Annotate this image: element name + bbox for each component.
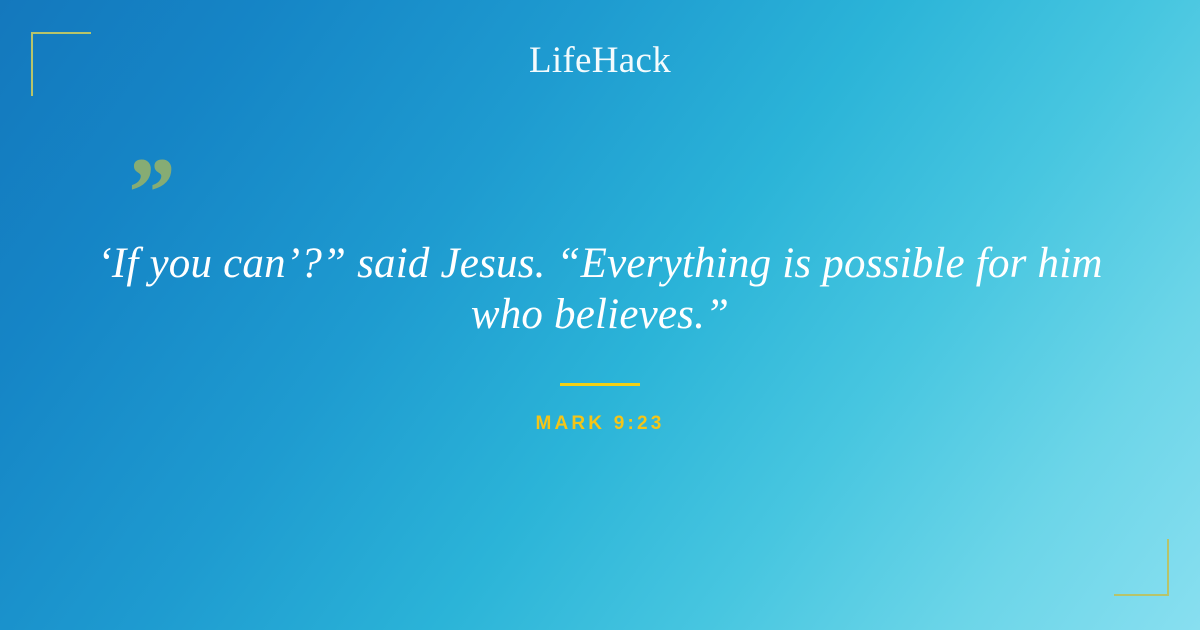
corner-bracket-bottom-right-icon — [1114, 539, 1169, 596]
quote-attribution: MARK 9:23 — [0, 413, 1200, 435]
bracket-vertical-bar — [1167, 539, 1169, 596]
bracket-horizontal-bar — [1114, 594, 1169, 596]
quote-block: ‘If you can’?” said Jesus. “Everything i… — [88, 238, 1112, 340]
divider-rule — [560, 383, 640, 386]
bracket-horizontal-bar — [31, 32, 91, 34]
quote-text: ‘If you can’?” said Jesus. “Everything i… — [88, 238, 1112, 340]
quotation-mark-icon: ” — [123, 143, 171, 243]
quote-card: LifeHack ” ‘If you can’?” said Jesus. “E… — [0, 0, 1200, 630]
brand-logo: LifeHack — [0, 38, 1200, 84]
